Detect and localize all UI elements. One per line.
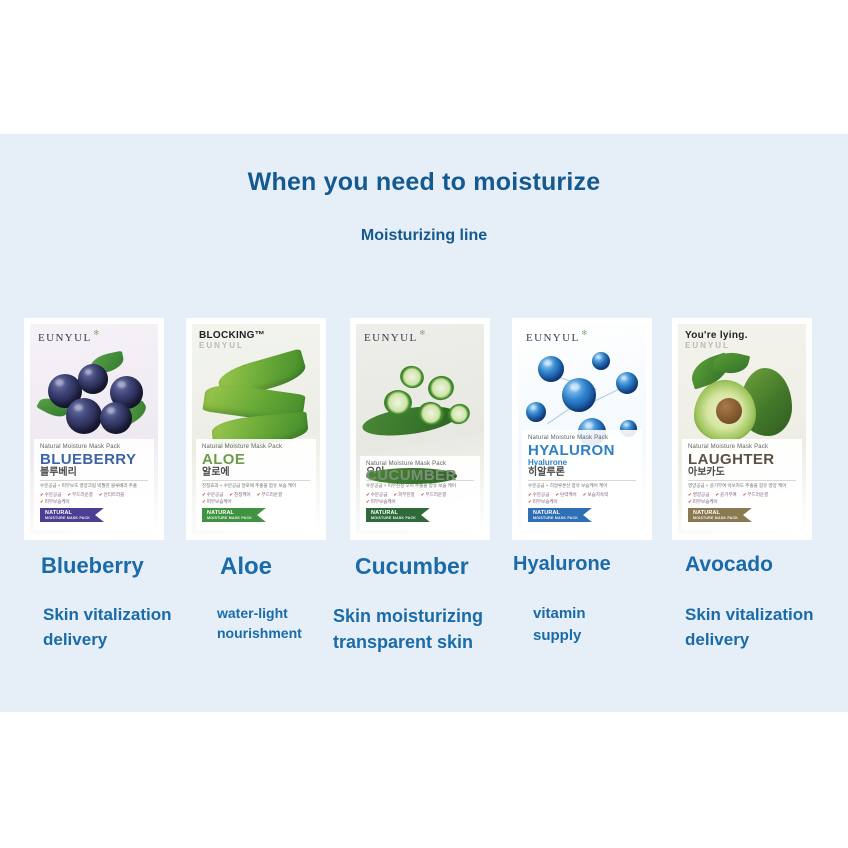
sachet-blueberry: EUNYUL✻ Natural Moisture Mask Pack BLUEB… [30, 324, 158, 534]
natural-badge-hyalurone: NATURAL MOISTURE MASK PACK [528, 508, 592, 522]
feature-item: 보습지속력 [583, 492, 608, 498]
badge-subtitle: MOISTURE MASK PACK [533, 516, 578, 520]
product-description-blueberry: Skin vitalization delivery [43, 603, 171, 652]
package-label-hyalurone: Natural Moisture Mask Pack HYALURON Hyal… [522, 430, 642, 530]
feature-item: 수분공급 [528, 492, 549, 498]
badge-subtitle: MOISTURE MASK PACK [45, 516, 90, 520]
flavor-korean-blueberry: 블루베리 [40, 467, 148, 478]
product-description-avocado: Skin vitalization delivery [685, 603, 813, 652]
package-label-avocado: Natural Moisture Mask Pack LAUGHTER 아보카도… [682, 439, 802, 530]
product-description-hyalurone: vitamin supply [533, 603, 586, 647]
natural-badge-avocado: NATURAL MOISTURE MASK PACK [688, 508, 752, 522]
product-card-row: EUNYUL✻ Natural Moisture Mask Pack BLUEB… [24, 318, 824, 540]
package-features-blueberry: 수분공급 부드러운결 안티트러블 피부보습케어 [40, 492, 148, 505]
feature-item: 안티트러블 [99, 492, 124, 498]
brand-logo-cucumber: EUNYUL✻ [364, 332, 418, 344]
feature-item: 탄력케어 [555, 492, 576, 498]
description-line: delivery [685, 628, 813, 653]
brand-logo-blueberry: EUNYUL✻ [38, 332, 92, 344]
feature-item: 수분공급 [366, 492, 387, 498]
natural-badge-aloe: NATURAL MOISTURE MASK PACK [202, 508, 266, 522]
product-name-blueberry: Blueberry [41, 553, 144, 579]
flavor-name-avocado: LAUGHTER [688, 452, 796, 468]
feature-item: 부드러운결 [257, 492, 282, 498]
package-desc-avocado: 영양공급 + 윤기부여 아보카도 추출물 함유 영양 케어 [688, 480, 796, 488]
feature-item: 부드러운결 [67, 492, 92, 498]
moisturizing-line-page: When you need to moisturize Moisturizing… [0, 0, 848, 848]
description-line: nourishment [217, 623, 302, 643]
pack-line-hyalurone: Natural Moisture Mask Pack [528, 435, 636, 442]
description-line: Skin vitalization [43, 603, 171, 628]
description-line: water-light [217, 603, 302, 623]
description-line: Skin vitalization [685, 603, 813, 628]
package-label-blueberry: Natural Moisture Mask Pack BLUEBERRY 블루베… [34, 439, 154, 530]
flavor-name-cucumber: CUCUMBER [366, 468, 457, 484]
feature-item: 피부보습케어 [202, 499, 232, 505]
feature-item: 피부보습케어 [366, 499, 396, 505]
product-description-cucumber: Skin moisturizing transparent skin [333, 603, 483, 655]
page-title: When you need to moisturize [0, 168, 848, 197]
package-desc-aloe: 진정효과 + 수분공급 알로에 추출물 함유 보습 케어 [202, 480, 310, 488]
product-name-cucumber: Cucumber [355, 553, 469, 580]
sachet-avocado: You're lying. EUNYUL Natural Moisture Ma… [678, 324, 806, 534]
product-description-aloe: water-light nourishment [217, 603, 302, 644]
feature-item: 수분공급 [40, 492, 61, 498]
feature-item: 부드러운결 [421, 492, 446, 498]
feature-item: 피부보습케어 [528, 499, 558, 505]
feature-item: 수분공급 [202, 492, 223, 498]
feature-item: 피부진정 [393, 492, 414, 498]
natural-badge-blueberry: NATURAL MOISTURE MASK PACK [40, 508, 104, 522]
description-line: vitamin [533, 603, 586, 625]
leaf-mark-icon: ✻ [581, 329, 588, 337]
sachet-cucumber: EUNYUL✻ Natural Moisture Mask Pack CUCUM… [356, 324, 484, 534]
description-line: delivery [43, 628, 171, 653]
natural-badge-cucumber: NATURAL MOISTURE MASK PACK [366, 508, 430, 522]
flavor-korean-avocado: 아보카도 [688, 467, 796, 478]
pack-line-avocado: Natural Moisture Mask Pack [688, 444, 796, 451]
feature-item: 피부보습케어 [688, 499, 718, 505]
description-line: transparent skin [333, 629, 483, 655]
product-card-blueberry[interactable]: EUNYUL✻ Natural Moisture Mask Pack BLUEB… [24, 318, 164, 540]
sachet-aloe: BLOCKING™ EUNYUL Natural Moisture Mask P… [192, 324, 320, 534]
product-name-aloe: Aloe [220, 553, 272, 581]
package-label-cucumber: Natural Moisture Mask Pack CUCUMBER 오이 수… [360, 456, 480, 530]
package-features-hyalurone: 수분공급 탄력케어 보습지속력 피부보습케어 [528, 492, 636, 505]
package-features-aloe: 수분공급 진정케어 부드러운결 피부보습케어 [202, 492, 310, 505]
flavor-name-blueberry: BLUEBERRY [40, 452, 148, 468]
pack-line-blueberry: Natural Moisture Mask Pack [40, 444, 148, 451]
badge-subtitle: MOISTURE MASK PACK [693, 516, 738, 520]
package-desc-blueberry: 수분공급 + 피부보호 영양크림 박월한 블루베리 추출 [40, 480, 148, 488]
description-line: Skin moisturizing [333, 603, 483, 629]
leaf-mark-icon: ✻ [419, 329, 426, 337]
flavor-name-aloe: ALOE [202, 452, 310, 468]
product-name-avocado: Avocado [685, 553, 773, 577]
product-card-cucumber[interactable]: EUNYUL✻ Natural Moisture Mask Pack CUCUM… [350, 318, 490, 540]
package-desc-hyalurone: 수분공급 + 히알루론산 함유 보습케어 케어 [528, 480, 636, 488]
product-card-aloe[interactable]: BLOCKING™ EUNYUL Natural Moisture Mask P… [186, 318, 326, 540]
feature-item: 윤기부여 [715, 492, 736, 498]
page-subtitle: Moisturizing line [0, 227, 848, 245]
feature-item: 영양공급 [688, 492, 709, 498]
flavor-korean-aloe: 알로에 [202, 467, 310, 478]
product-card-avocado[interactable]: You're lying. EUNYUL Natural Moisture Ma… [672, 318, 812, 540]
feature-item: 부드러운결 [743, 492, 768, 498]
leaf-mark-icon: ✻ [93, 329, 100, 337]
pack-line-aloe: Natural Moisture Mask Pack [202, 444, 310, 451]
product-name-hyalurone: Hyalurone [513, 553, 611, 576]
sachet-hyalurone: EUNYUL✻ Natural Moisture Mask Pack [518, 324, 646, 534]
product-description-row: Skin vitalization delivery water-light n… [24, 603, 848, 673]
package-label-aloe: Natural Moisture Mask Pack ALOE 알로에 진정효과… [196, 439, 316, 530]
feature-item: 진정케어 [229, 492, 250, 498]
brand-logo-hyalurone: EUNYUL✻ [526, 332, 580, 344]
flavor-name-hyalurone: HYALURON [528, 443, 636, 459]
badge-subtitle: MOISTURE MASK PACK [207, 516, 252, 520]
package-features-cucumber: 수분공급 피부진정 부드러운결 피부보습케어 [366, 492, 474, 505]
package-features-avocado: 영양공급 윤기부여 부드러운결 피부보습케어 [688, 492, 796, 505]
description-line: supply [533, 625, 586, 647]
product-card-hyalurone[interactable]: EUNYUL✻ Natural Moisture Mask Pack [512, 318, 652, 540]
flavor-korean-hyalurone: 히알루론 [528, 467, 636, 478]
product-name-row: Blueberry Aloe Cucumber Hyalurone Avocad… [24, 553, 848, 593]
badge-subtitle: MOISTURE MASK PACK [371, 516, 416, 520]
feature-item: 피부보습케어 [40, 499, 70, 505]
cucumber-artwork [356, 346, 484, 456]
